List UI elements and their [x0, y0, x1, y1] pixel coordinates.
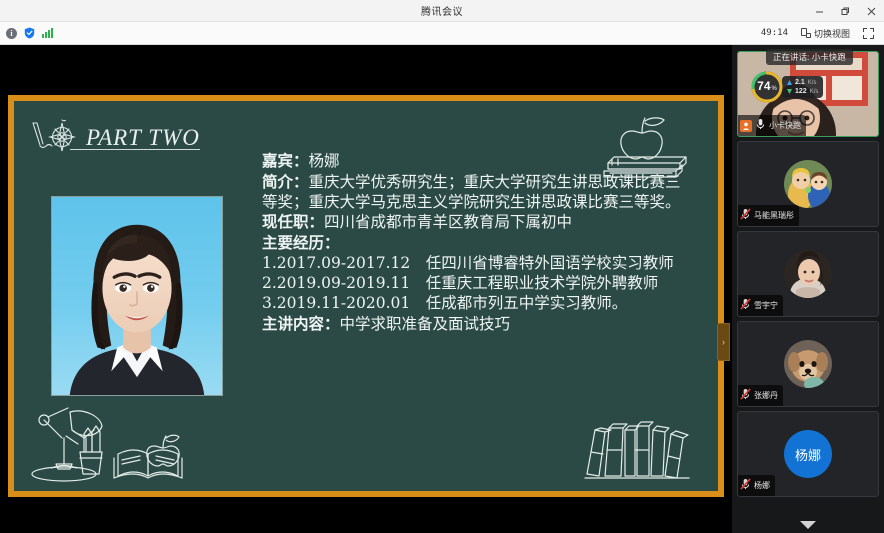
participant-name: 张娜丹 [754, 390, 778, 401]
slide-text-key: 现任职： [262, 212, 324, 231]
mic-muted-icon[interactable] [740, 207, 751, 225]
download-speed-unit: K/s [810, 89, 819, 95]
slide-text-value: 杨娜 [309, 152, 340, 170]
cpu-percent-unit: % [772, 86, 777, 92]
slide-text-value: 重庆大学优秀研究生；重庆大学研究生讲思政课比赛三等奖；重庆大学马克思主义学院研究… [262, 173, 681, 211]
slide-text-line: 3.2019.11-2020.01 任成都市列五中学实习教师。 [262, 294, 682, 314]
meeting-toolbar: i 49:14 切换视图 [0, 22, 884, 45]
slide-text-line: 现任职：四川省成都市青羊区教育局下属初中 [262, 212, 682, 233]
mic-muted-icon[interactable] [740, 477, 751, 495]
participant-name: 杨娜 [754, 480, 770, 491]
section-header-underline [70, 149, 200, 150]
slide-text-line: 简介：重庆大学优秀研究生；重庆大学研究生讲思政课比赛三等奖；重庆大学马克思主义学… [262, 172, 682, 213]
upload-arrow-icon [787, 80, 792, 85]
meeting-timer: 49:14 [761, 28, 788, 38]
network-stats-overlay: 74% 2.1 K/s 122 K/s [750, 69, 872, 105]
slide-text-value: 2.2019.09-2019.11 任重庆工程职业技术学院外聘教师 [262, 274, 658, 292]
compass-rose-icon [28, 117, 84, 159]
slide-text-line: 1.2017.09-2017.12 任四川省博睿特外国语学校实习教师 [262, 254, 682, 274]
mic-on-icon[interactable] [755, 117, 766, 135]
participant-sidebar: 正在讲话: 小卡快跑 74% 2.1 K/s [732, 45, 884, 533]
cpu-usage-ring: 74% [750, 70, 784, 104]
participant-tile[interactable]: 杨娜杨娜 [737, 411, 879, 497]
close-button[interactable] [858, 0, 884, 22]
slide-section-header: PART TWO [28, 117, 200, 159]
slide-text-value: 3.2019.11-2020.01 任成都市列五中学实习教师。 [262, 294, 627, 312]
participant-name-bar: 马能黑瑞彤 [738, 205, 799, 226]
slide-text-value: 中学求职准备及面试技巧 [340, 315, 511, 333]
upload-speed-value: 2.1 [795, 79, 805, 86]
desk-lamp-and-book-icon [22, 406, 207, 489]
presentation-slide: PART TWO [8, 95, 724, 497]
participant-avatar [784, 340, 832, 388]
slide-chalkboard: PART TWO [14, 101, 718, 491]
switch-view-label: 切换视图 [814, 27, 850, 40]
participant-name-bar: 张娜丹 [738, 385, 783, 406]
slide-text-value: 1.2017.09-2017.12 任四川省博睿特外国语学校实习教师 [262, 254, 674, 272]
active-speaker-banner: 正在讲话: 小卡快跑 [766, 49, 853, 65]
info-icon[interactable]: i [6, 28, 17, 39]
slide-text-line: 主讲内容：中学求职准备及面试技巧 [262, 314, 682, 335]
toolbar-right-controls: 49:14 切换视图 [761, 26, 878, 41]
participant-name: 马能黑瑞彤 [754, 210, 794, 221]
slide-text-key: 简介： [262, 172, 309, 191]
slide-text-key: 主要经历： [262, 233, 340, 252]
download-speed-row: 122 K/s [787, 88, 818, 95]
download-arrow-icon [787, 89, 792, 94]
participant-name: 小卡快跑 [769, 120, 801, 131]
shared-screen-stage: PART TWO [0, 45, 732, 533]
host-badge-icon [740, 120, 752, 132]
chevron-down-icon [800, 521, 816, 529]
participant-avatar [784, 250, 832, 298]
cpu-usage-value: 74% [750, 70, 784, 104]
minimize-button[interactable] [806, 0, 832, 22]
download-speed-value: 122 [795, 88, 807, 95]
participant-name-bar: 小卡快跑 [738, 115, 806, 136]
participant-tile[interactable]: 马能黑瑞彤 [737, 141, 879, 227]
collapse-panel-handle[interactable]: › [717, 323, 730, 361]
switch-view-button[interactable]: 切换视图 [797, 26, 854, 41]
participant-tile-list: 小卡快跑马能黑瑞彤雪宇宁张娜丹杨娜杨娜 [737, 51, 879, 497]
scroll-down-button[interactable] [732, 521, 884, 529]
slide-text-line: 主要经历： [262, 233, 682, 254]
mic-muted-icon[interactable] [740, 387, 751, 405]
guest-portrait-photo [51, 196, 223, 396]
network-speed-box: 2.1 K/s 122 K/s [782, 76, 823, 98]
avatar-initial: 杨娜 [784, 430, 832, 478]
maximize-restore-button[interactable] [832, 0, 858, 22]
window-controls [806, 0, 884, 22]
window-title: 腾讯会议 [421, 3, 463, 18]
row-of-books-icon [579, 416, 704, 487]
part-two-label: PART TWO [86, 125, 200, 151]
slide-text-line: 2.2019.09-2019.11 任重庆工程职业技术学院外聘教师 [262, 274, 682, 294]
slide-body-text: 嘉宾：杨娜简介：重庆大学优秀研究生；重庆大学研究生讲思政课比赛三等奖；重庆大学马… [262, 151, 682, 334]
toolbar-left-icons: i [6, 27, 53, 39]
participant-name-bar: 雪宇宁 [738, 295, 783, 316]
slide-text-line: 嘉宾：杨娜 [262, 151, 682, 172]
mic-muted-icon[interactable] [740, 297, 751, 315]
title-bar: 腾讯会议 [0, 0, 884, 22]
upload-speed-unit: K/s [808, 80, 817, 86]
participant-name-bar: 杨娜 [738, 475, 775, 496]
participant-avatar [784, 160, 832, 208]
slide-text-value: 四川省成都市青羊区教育局下属初中 [324, 213, 572, 231]
tencent-meeting-window: 腾讯会议 i [0, 0, 884, 533]
upload-speed-row: 2.1 K/s [787, 79, 818, 86]
participant-tile[interactable]: 张娜丹 [737, 321, 879, 407]
participant-tile[interactable]: 雪宇宁 [737, 231, 879, 317]
fullscreen-icon[interactable] [863, 28, 874, 39]
shield-icon[interactable] [24, 27, 35, 39]
switch-view-icon [801, 28, 811, 38]
signal-strength-icon[interactable] [42, 28, 53, 38]
cpu-percent-number: 74 [757, 79, 770, 93]
slide-text-key: 主讲内容： [262, 314, 340, 333]
slide-text-key: 嘉宾： [262, 151, 309, 170]
participant-name: 雪宇宁 [754, 300, 778, 311]
